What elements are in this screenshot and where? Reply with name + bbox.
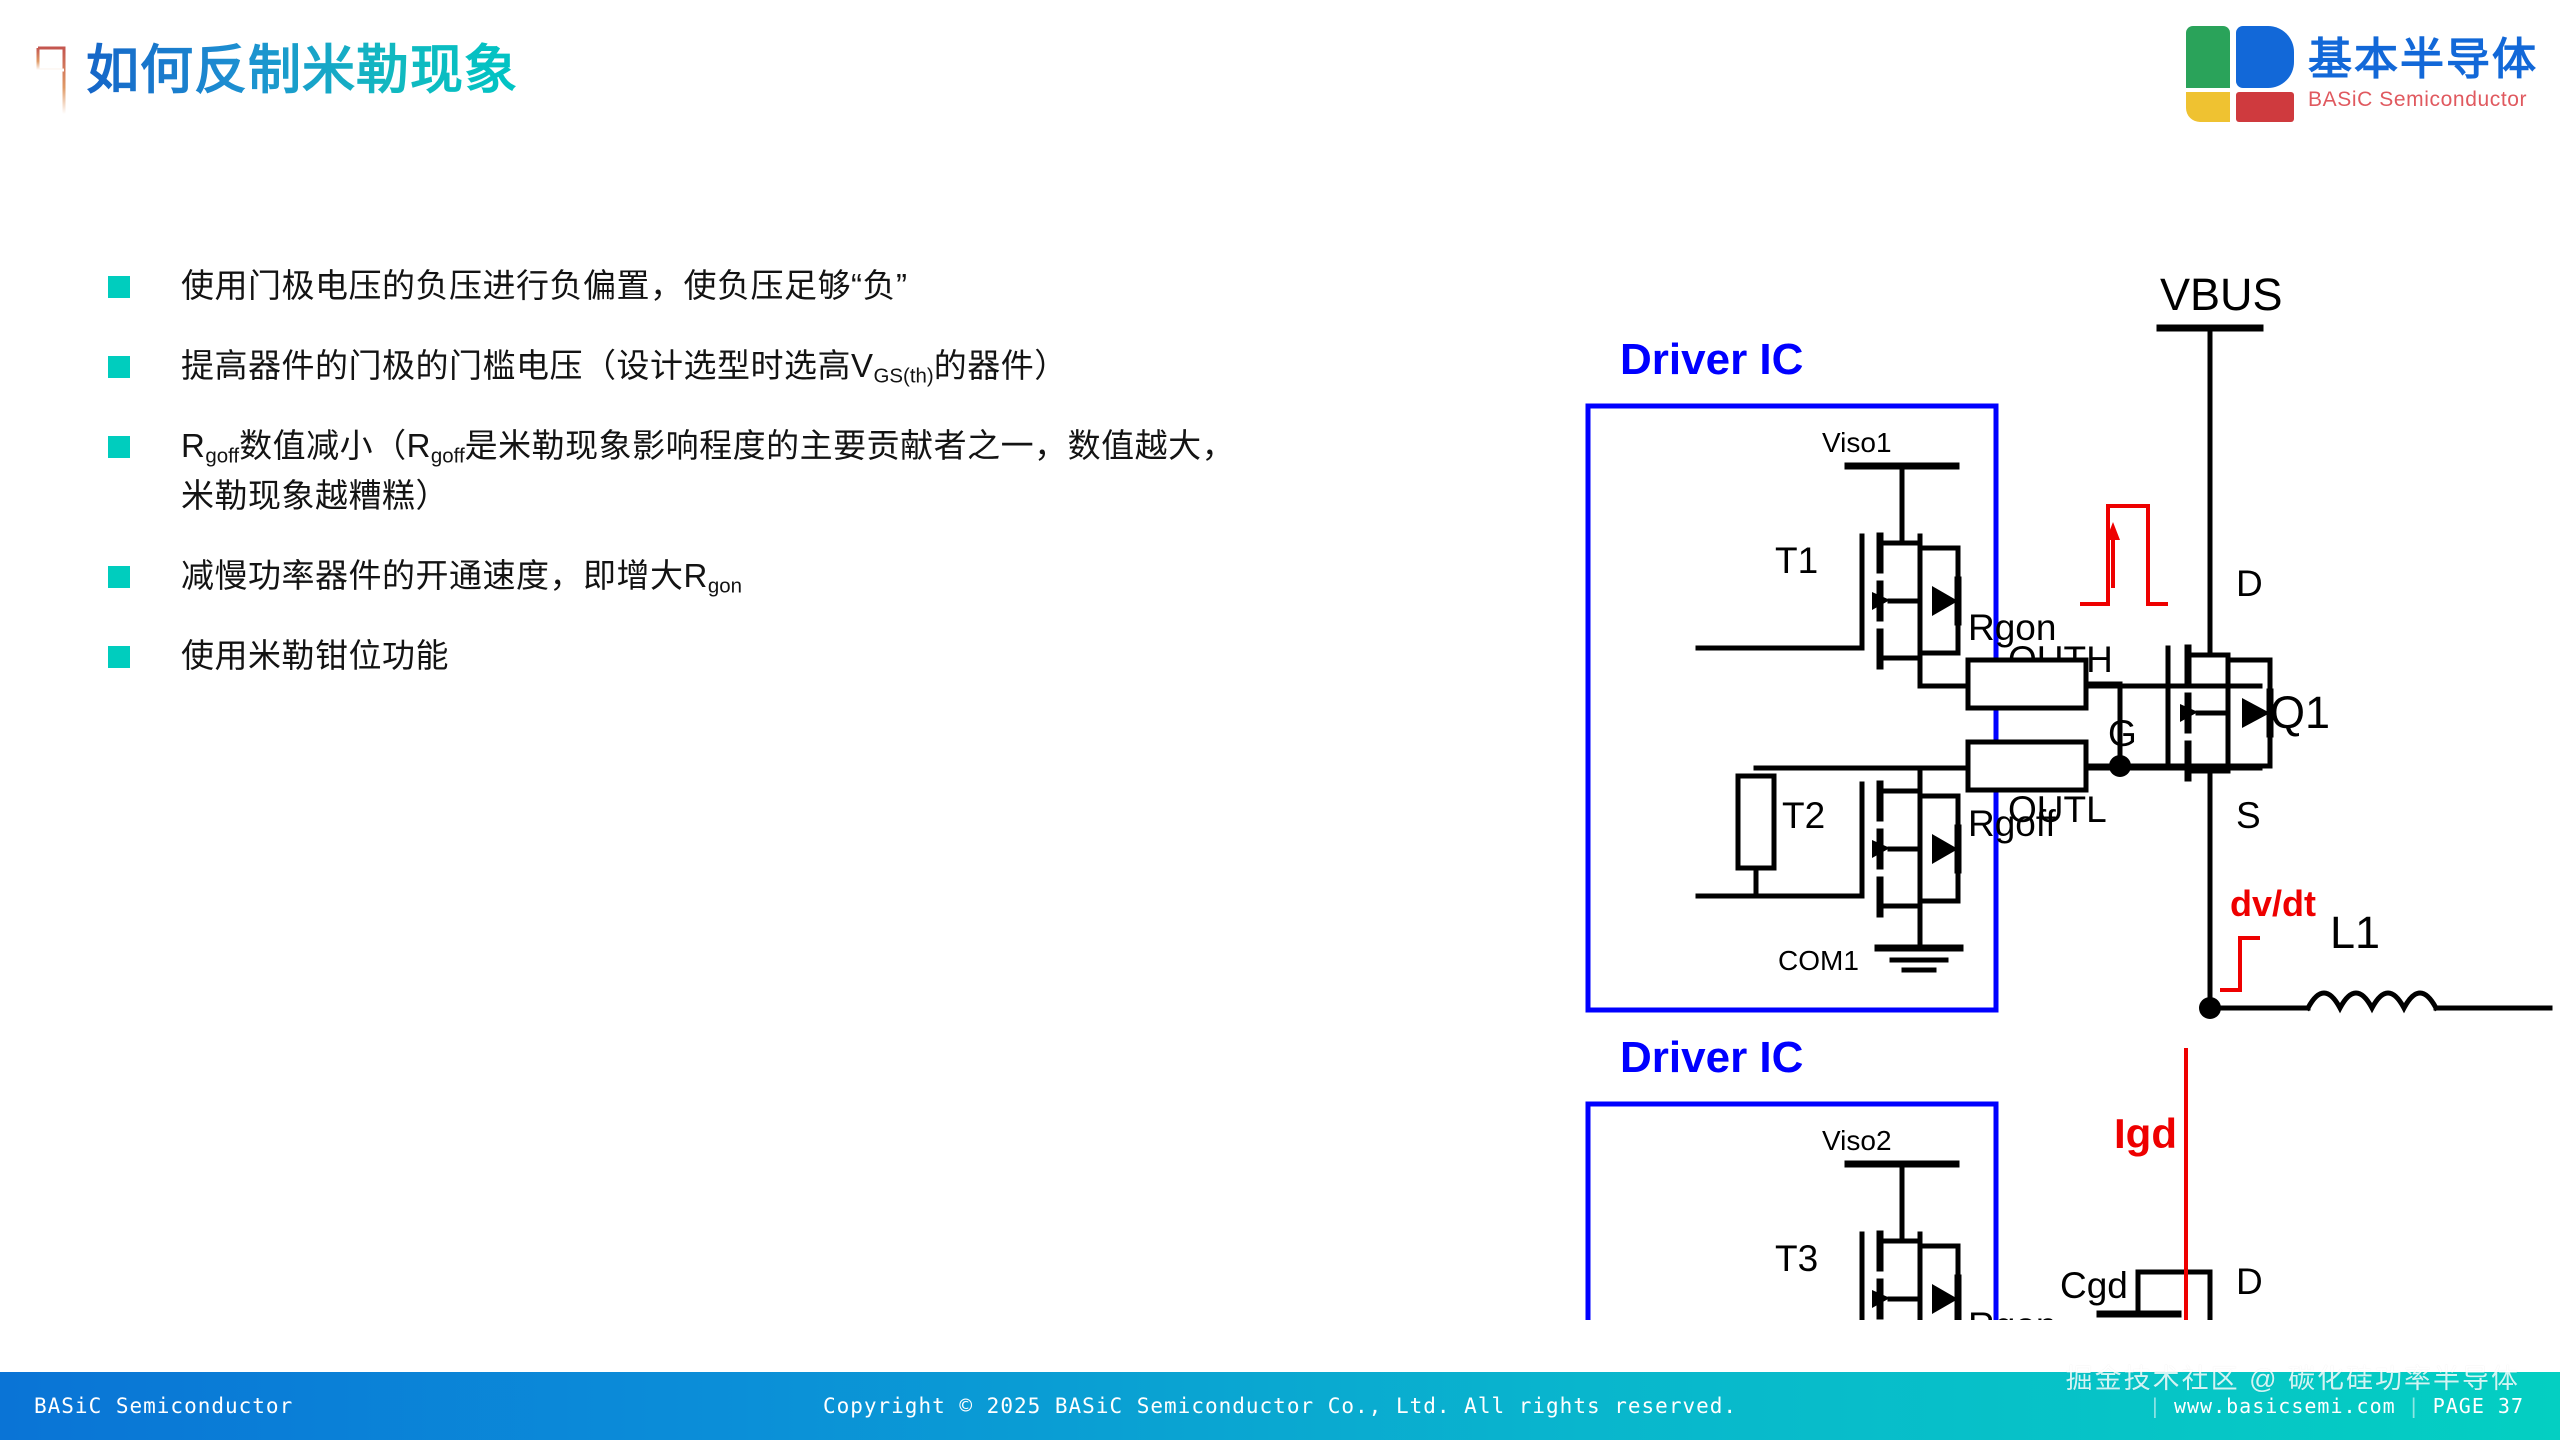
rgon-top-label: Rgon — [1968, 607, 2056, 648]
logo-mark-icon — [2186, 26, 2294, 122]
step-waveform-icon — [2080, 506, 2168, 604]
dvdt-label: dv/dt — [2230, 883, 2316, 924]
footer-meta: | www.basicsemi.com | PAGE 37 — [2149, 1394, 2524, 1418]
q1-drain-label: D — [2236, 563, 2263, 604]
bullet-square-icon — [108, 276, 130, 298]
cgd-label: Cgd — [2060, 1265, 2128, 1306]
logo-chinese-name: 基本半导体 — [2308, 38, 2538, 82]
mosfet-q1: D S Q1 — [2108, 563, 2330, 1008]
footer-website[interactable]: www.basicsemi.com — [2174, 1394, 2396, 1418]
bullet-text: Rgoff数值减小（Rgoff是米勒现象影响程度的主要贡献者之一，数值越大，米勒… — [181, 422, 1235, 520]
bullet-text: 提高器件的门极的门槛电压（设计选型时选高VGS(th)的器件） — [181, 342, 1068, 392]
mosfet-t3: T3 — [1698, 1234, 1958, 1320]
rgoff-top-resistor — [1968, 742, 2086, 790]
footer-brand: BASiC Semiconductor — [34, 1394, 293, 1418]
rgoff-top-label: Rgoff — [1968, 803, 2056, 844]
list-item: 提高器件的门极的门槛电压（设计选型时选高VGS(th)的器件） — [108, 342, 1528, 392]
vbus-label: VBUS — [2160, 269, 2283, 320]
q1-label: Q1 — [2270, 687, 2330, 738]
driver-ic-top-label: Driver IC — [1620, 335, 1803, 384]
list-item: 减慢功率器件的开通速度，即增大Rgon — [108, 552, 1528, 602]
bullet-square-icon — [108, 646, 130, 668]
title-corner-mark-icon — [34, 40, 76, 122]
mosfet-t2: T2 — [1698, 768, 2260, 948]
page-number: PAGE 37 — [2433, 1394, 2524, 1418]
mosfet-t1: T1 — [1698, 536, 1958, 686]
logo-english-name: BASiC Semiconductor — [2308, 89, 2538, 110]
viso1-label: Viso1 — [1822, 427, 1892, 458]
bullet-square-icon — [108, 356, 130, 378]
gate-node-top — [2109, 755, 2131, 777]
bullet-text: 使用米勒钳位功能 — [181, 632, 449, 681]
slide-root: 如何反制米勒现象 基本半导体 BASiC Semiconductor 使用门极电… — [0, 0, 2560, 1440]
list-item: 使用门极电压的负压进行负偏置，使负压足够“负” — [108, 262, 1528, 311]
footer-separator-right: | — [2408, 1394, 2421, 1418]
t2-label: T2 — [1782, 795, 1825, 836]
bullet-list: 使用门极电压的负压进行负偏置，使负压足够“负” 提高器件的门极的门槛电压（设计选… — [108, 262, 1528, 712]
t2-resistor — [1738, 776, 1774, 868]
page-title: 如何反制米勒现象 — [86, 28, 518, 104]
bullet-text: 使用门极电压的负压进行负偏置，使负压足够“负” — [181, 262, 907, 311]
t1-label: T1 — [1775, 540, 1818, 581]
list-item: 使用米勒钳位功能 — [108, 632, 1528, 681]
bullet-square-icon — [108, 436, 130, 458]
igd-label: Igd — [2114, 1110, 2177, 1157]
l1-label: L1 — [2330, 907, 2380, 958]
q1-gate-label: G — [2108, 713, 2137, 754]
rgon-bottom-label: Rgon — [1968, 1305, 2056, 1320]
watermark-text: 掘金技术社区 @ 碳化硅功率半导体 — [2066, 1357, 2520, 1396]
rgon-top-resistor — [1968, 660, 2086, 708]
list-item: Rgoff数值减小（Rgoff是米勒现象影响程度的主要贡献者之一，数值越大，米勒… — [108, 422, 1528, 520]
circuit-diagram: .wire{stroke:#000;stroke-width:5;fill:no… — [1560, 248, 2560, 1320]
viso2-label: Viso2 — [1822, 1125, 1892, 1156]
driver-ic-top-box — [1588, 406, 1996, 1010]
bullet-text: 减慢功率器件的开通速度，即增大Rgon — [181, 552, 742, 602]
t3-label: T3 — [1775, 1238, 1818, 1279]
footer-separator-left: | — [2149, 1394, 2162, 1418]
footer-copyright: Copyright © 2025 BASiC Semiconductor Co.… — [823, 1394, 1737, 1418]
driver-ic-bottom-label: Driver IC — [1620, 1033, 1803, 1082]
brand-logo: 基本半导体 BASiC Semiconductor — [2186, 26, 2538, 122]
com1-label: COM1 — [1778, 945, 1859, 976]
q1-source-label: S — [2236, 795, 2261, 836]
bullet-square-icon — [108, 566, 130, 588]
q2-drain-label: D — [2236, 1261, 2263, 1302]
